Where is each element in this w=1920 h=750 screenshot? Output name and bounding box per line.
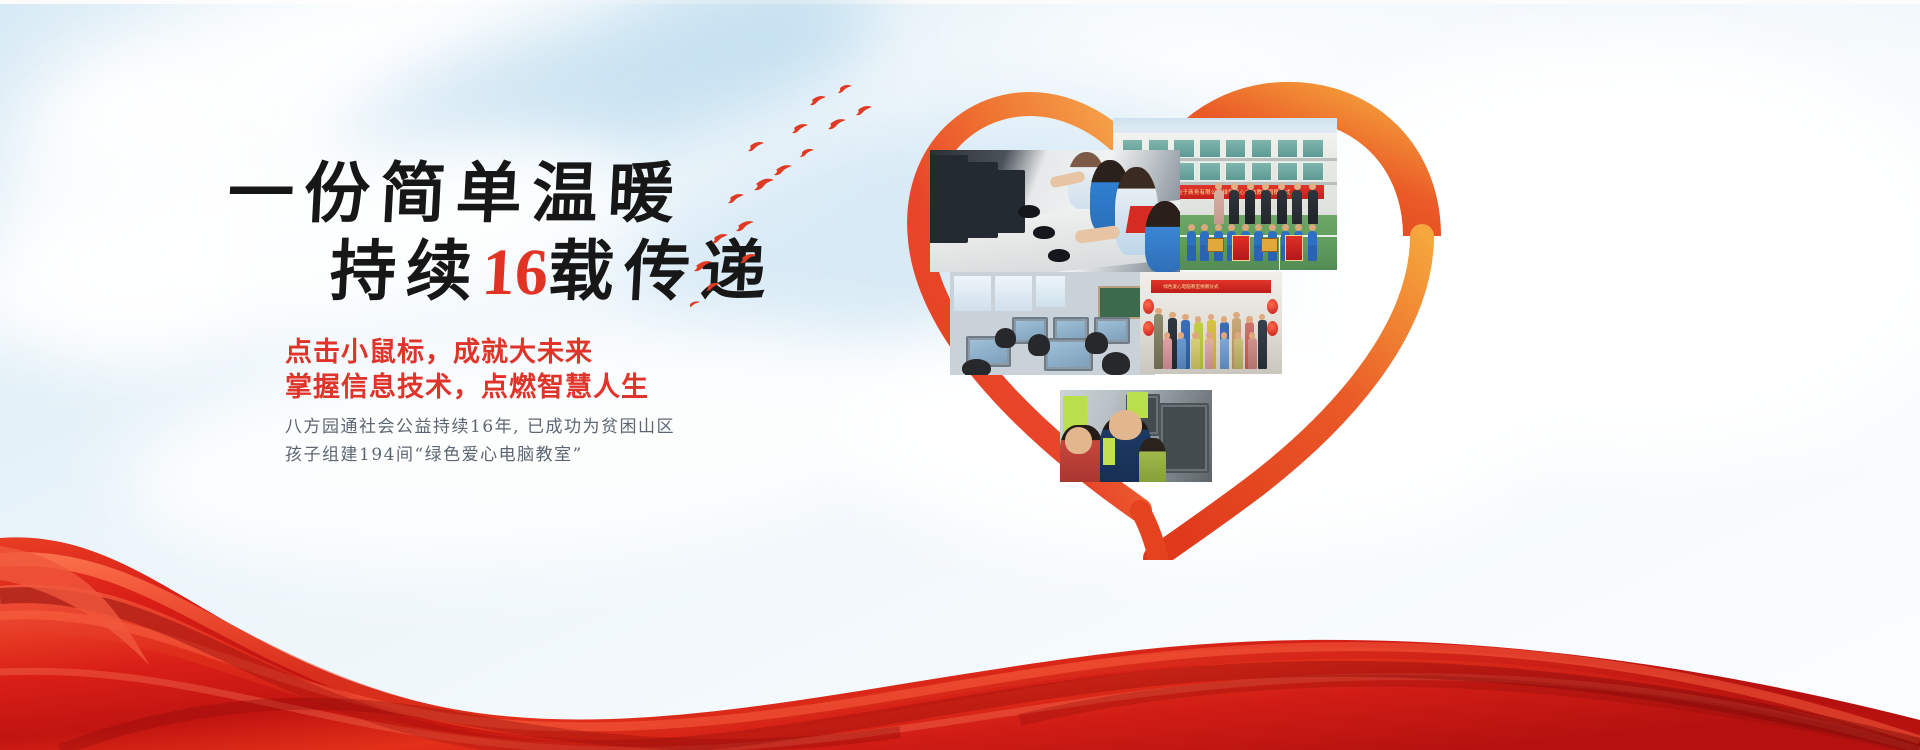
- subtitle-line-1: 点击小鼠标，成就大未来: [285, 330, 593, 369]
- red-silk-ribbon-wave: [0, 420, 1920, 750]
- charity-banner: 一份简单温暖 持续16载传递 点击小鼠标，成就大未来 掌握信息技术，点燃智慧人生…: [0, 0, 1920, 750]
- headline-year-count: 16: [480, 236, 550, 309]
- photo-indoor-ceremony-group: 绿色爱心电脑教室捐赠仪式: [1140, 272, 1282, 374]
- subtitle-line-2: 掌握信息技术，点燃智慧人生: [285, 365, 649, 404]
- photo-computer-classroom: [950, 272, 1155, 375]
- ceremony-banner-indoor-text: 绿色爱心电脑教室捐赠仪式: [1163, 284, 1218, 290]
- photo-kids-at-computers: [930, 150, 1180, 272]
- headline-line-1: 一份简单温暖: [226, 160, 685, 226]
- ceremony-banner-indoor: 绿色爱心电脑教室捐赠仪式: [1151, 280, 1270, 293]
- headline-line-2-prefix: 持续: [328, 232, 484, 310]
